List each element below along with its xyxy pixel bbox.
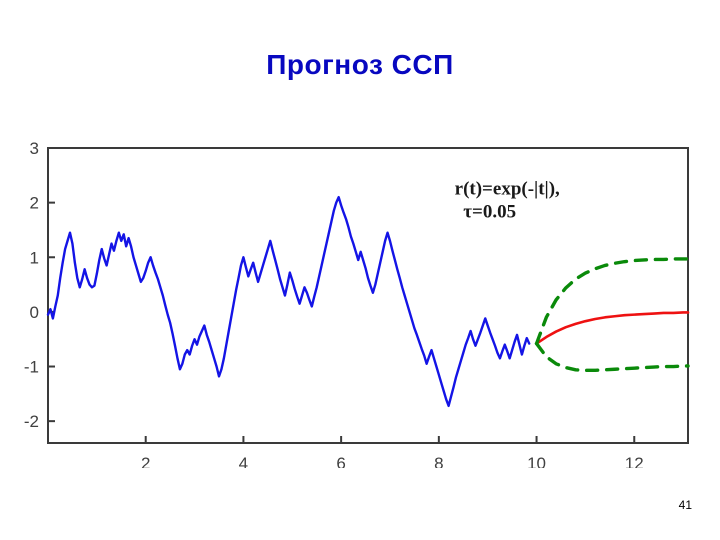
chart-annotations: r(t)=exp(-|t|),τ=0.05 xyxy=(455,178,560,222)
x-tick-label: 4 xyxy=(239,454,248,468)
plot-border xyxy=(48,148,688,443)
x-tick-label: 10 xyxy=(527,454,546,468)
y-tick-label: 3 xyxy=(30,139,39,158)
slide-canvas: Прогноз ССП 3210-1-2 24681012 r(t)=exp(-… xyxy=(0,0,720,540)
page-number: 41 xyxy=(679,498,692,512)
page-title: Прогноз ССП xyxy=(0,48,720,82)
series-forecast-lower-bound xyxy=(537,344,688,371)
correlation-formula-line2: τ=0.05 xyxy=(463,201,516,222)
x-tick-label: 12 xyxy=(625,454,644,468)
y-tick-label: -1 xyxy=(24,358,39,377)
series-observed-process xyxy=(48,197,529,406)
chart-series xyxy=(48,197,688,406)
chart-svg: 3210-1-2 24681012 r(t)=exp(-|t|),τ=0.05 xyxy=(10,128,710,468)
y-tick-label: -2 xyxy=(24,412,39,431)
correlation-formula-line1: r(t)=exp(-|t|), xyxy=(455,178,560,199)
y-tick-label: 1 xyxy=(30,248,39,267)
x-tick-label: 2 xyxy=(141,454,150,468)
x-axis-ticks: 24681012 xyxy=(141,436,644,468)
x-tick-label: 6 xyxy=(336,454,345,468)
forecast-chart: 3210-1-2 24681012 r(t)=exp(-|t|),τ=0.05 xyxy=(10,128,710,468)
plot-frame xyxy=(48,148,688,443)
y-tick-label: 2 xyxy=(30,194,39,213)
y-axis-ticks: 3210-1-2 xyxy=(24,139,55,431)
y-tick-label: 0 xyxy=(30,303,39,322)
x-tick-label: 8 xyxy=(434,454,443,468)
series-forecast-mean xyxy=(537,312,688,343)
